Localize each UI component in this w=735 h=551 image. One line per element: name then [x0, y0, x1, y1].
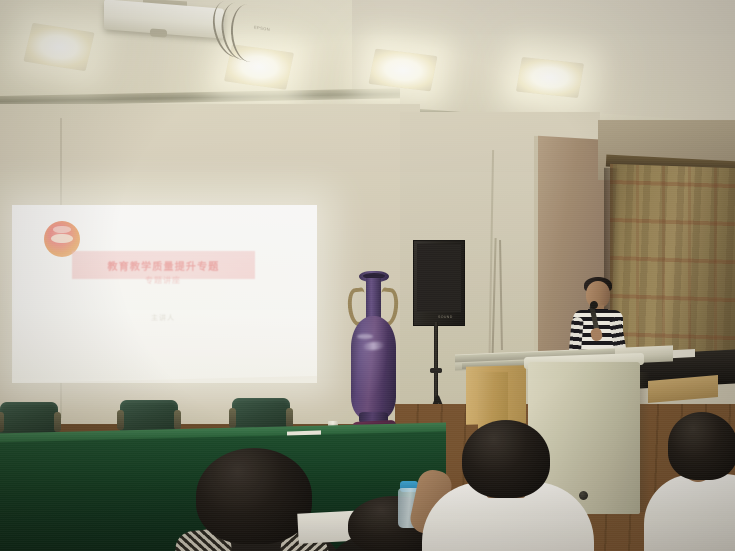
- audience-member-1: [196, 448, 312, 551]
- projection-screen[interactable]: 教育教学质量提升专题 专题讲座 主讲人: [12, 205, 317, 383]
- chair-2-arm-left: [117, 410, 124, 430]
- audience-1-head: [196, 448, 312, 544]
- chair-3-arm-right: [286, 408, 293, 428]
- chair-3-arm-left: [229, 408, 236, 428]
- chair-1-arm-right: [54, 412, 61, 432]
- ceiling-light-3: [369, 49, 438, 92]
- vase-highlight-2: [357, 334, 373, 339]
- speaker-stand-knob[interactable]: [430, 368, 442, 373]
- speaker-grille: [417, 244, 461, 312]
- projector-lens-icon: [150, 28, 167, 37]
- audience-4-head: [668, 412, 735, 480]
- audience-member-3: [456, 420, 556, 551]
- slide-subtitle-text: 专题讲座: [117, 275, 209, 286]
- conference-room-photo: EPSON 教育教学质量提升专题 专题讲座 主讲人: [0, 0, 735, 551]
- speaker-stand-pole: [434, 322, 438, 404]
- audience-3-head: [462, 420, 550, 498]
- projection-screen-surface: 教育教学质量提升专题 专题讲座 主讲人: [12, 205, 317, 383]
- wooden-plank: [648, 375, 718, 403]
- ceiling-light-4: [516, 57, 584, 98]
- chair-1-arm-left: [0, 412, 4, 432]
- vase-body: [351, 316, 396, 420]
- pa-speaker: SOUND: [413, 240, 465, 326]
- chair-2-arm-right: [174, 410, 181, 430]
- slide-footer-text: 主讲人: [98, 313, 228, 323]
- slide-title-text: 教育教学质量提升专题: [108, 258, 220, 273]
- speaker-brand-label: SOUND: [438, 315, 453, 319]
- audience-member-4: [668, 412, 735, 551]
- cabinet-knob[interactable]: [579, 491, 588, 500]
